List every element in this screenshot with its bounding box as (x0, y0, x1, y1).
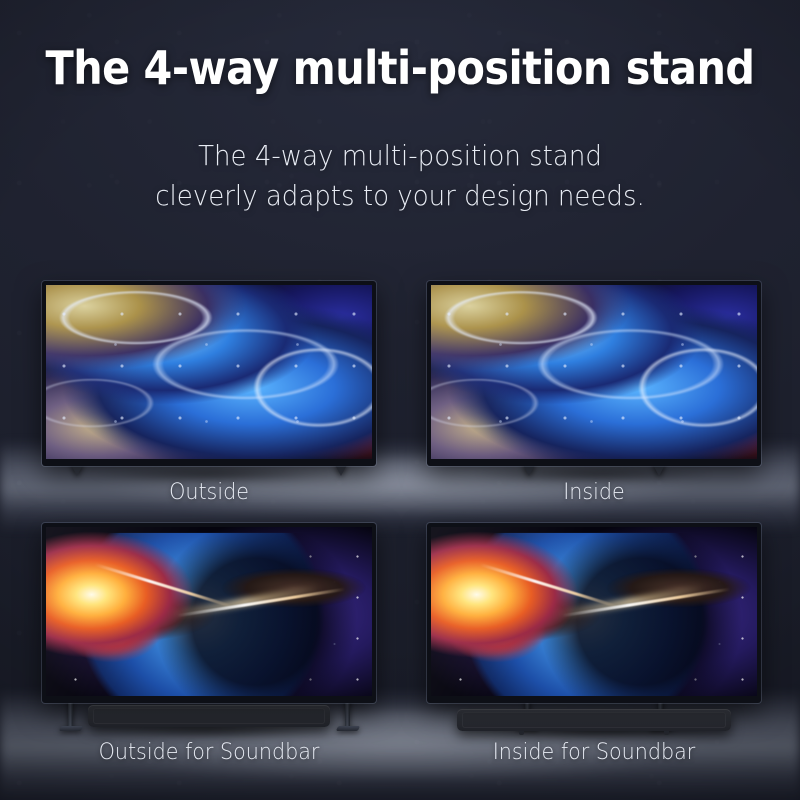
soundbar (88, 705, 330, 727)
screen-art-cosmic-explosion (46, 527, 372, 696)
tv-bezel (427, 523, 761, 703)
subtitle-line-2: cleverly adapts to your design needs. (28, 176, 772, 216)
caption-outside: Outside (52, 480, 366, 505)
page-title: The 4-way multi-position stand (40, 44, 760, 94)
gallery-item-inside[interactable] (427, 281, 761, 476)
gallery-item-inside-soundbar[interactable] (427, 523, 761, 731)
caption-inside: Inside (437, 480, 751, 505)
tv-unit (42, 523, 376, 703)
caption-outside-soundbar: Outside for Soundbar (52, 740, 366, 765)
page-subtitle: The 4-way multi-position stand cleverly … (28, 136, 772, 216)
screen-art-cosmic-explosion (431, 527, 757, 696)
caption-inside-soundbar: Inside for Soundbar (437, 740, 751, 765)
tv-bezel (427, 281, 761, 466)
tv-screen (46, 527, 372, 696)
soundbar (457, 709, 731, 731)
tv-bezel (42, 281, 376, 466)
tv-bezel (42, 523, 376, 703)
subtitle-line-1: The 4-way multi-position stand (28, 136, 772, 176)
tv-screen (431, 285, 757, 459)
product-feature-panel: The 4-way multi-position stand The 4-way… (0, 0, 800, 800)
tv-screen (431, 527, 757, 696)
screen-art-abstract-bubbles (431, 285, 757, 459)
gallery-item-outside-soundbar[interactable] (42, 523, 376, 731)
gallery-item-outside[interactable] (42, 281, 376, 476)
screen-art-abstract-bubbles (46, 285, 372, 459)
tv-unit (427, 281, 761, 466)
tv-screen (46, 285, 372, 459)
tv-unit (427, 523, 761, 703)
tv-unit (42, 281, 376, 466)
